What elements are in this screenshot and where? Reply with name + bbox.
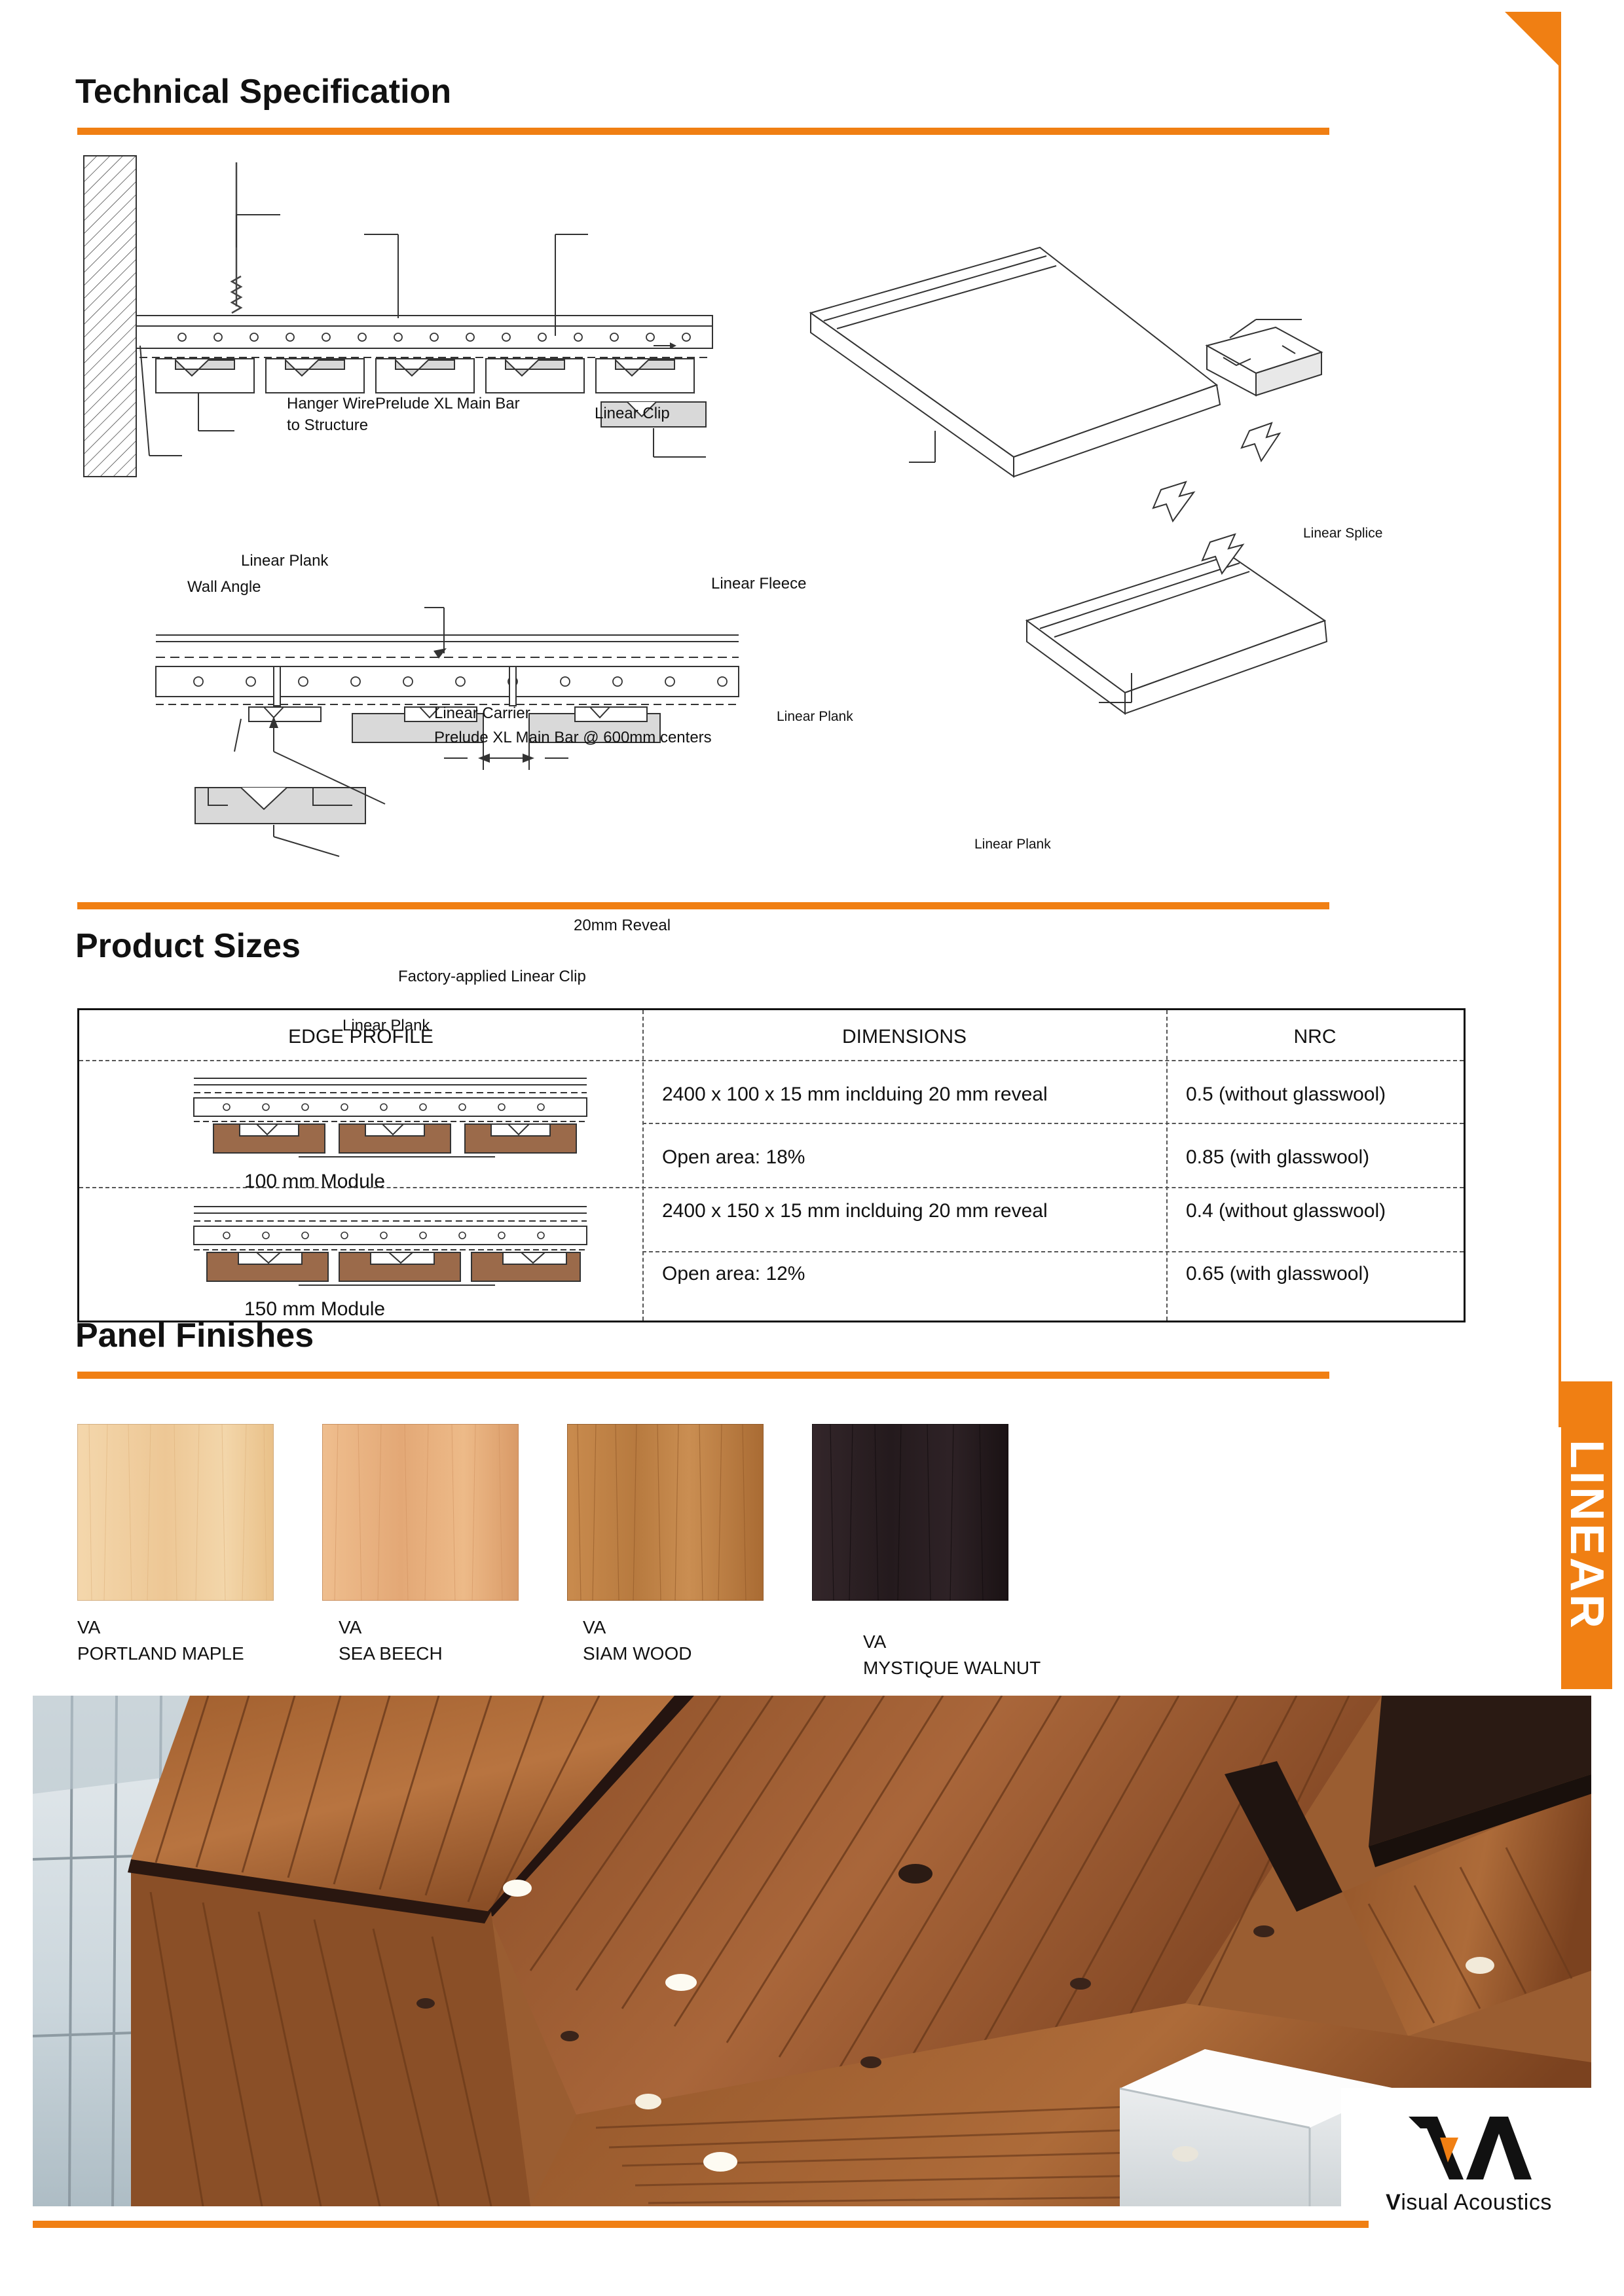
swatch-mystique-walnut-texture (812, 1424, 1008, 1601)
label-prelude-main-bar: Prelude XL Main Bar (375, 395, 520, 413)
open-area-100mm: Open area: 18% (662, 1146, 805, 1169)
table-nrc-subrule-2 (642, 1251, 1464, 1252)
swatch-caption-name-2: SEA BEECH (339, 1642, 443, 1666)
table-col-divider-2 (1166, 1010, 1168, 1321)
corner-triangle-decoration (1505, 12, 1561, 68)
swatch-mystique-walnut[interactable] (812, 1424, 1008, 1601)
table-header-rule (79, 1060, 1464, 1061)
page: LINEAR Technical Specification (0, 0, 1624, 2296)
dimensions-100mm: 2400 x 100 x 15 mm inclduing 20 mm revea… (662, 1084, 1048, 1106)
profile-drawing-100mm (187, 1070, 593, 1169)
section-title-finishes: Panel Finishes (75, 1316, 314, 1355)
table-header-edge-profile: EDGE PROFILE (79, 1026, 642, 1048)
product-sizes-table: EDGE PROFILE DIMENSIONS NRC (77, 1008, 1466, 1322)
brand-name-initial: V (1386, 2190, 1401, 2215)
nrc-with-100mm: 0.85 (with glasswool) (1186, 1146, 1369, 1169)
label-linear-plank-iso1: Linear Plank (777, 709, 853, 725)
nrc-without-100mm: 0.5 (without glasswool) (1186, 1084, 1386, 1106)
swatch-portland-maple-texture (77, 1424, 274, 1601)
swatch-siam-wood[interactable] (567, 1424, 764, 1601)
side-tab-linear: LINEAR (1561, 1381, 1612, 1689)
brand-name: Visual Acoustics (1386, 2190, 1552, 2215)
technical-diagram: Hanger Wire to Structure Prelude XL Main… (77, 149, 1335, 909)
swatch-portland-maple[interactable] (77, 1424, 274, 1601)
swatch-sea-beech[interactable] (322, 1424, 519, 1601)
swatch-caption-prefix-3: VA (583, 1616, 606, 1639)
side-tab-label: LINEAR (1560, 1440, 1614, 1631)
label-factory-applied-clip: Factory-applied Linear Clip (398, 968, 586, 986)
swatch-caption-prefix-1: VA (77, 1616, 100, 1639)
label-hanger-wire-line1: Hanger Wire (287, 395, 375, 413)
label-linear-clip: Linear Clip (595, 405, 670, 423)
table-nrc-subrule-1 (642, 1123, 1464, 1124)
swatch-sea-beech-texture (322, 1424, 519, 1601)
swatch-caption-prefix-2: VA (339, 1616, 361, 1639)
profile-drawing-150mm (187, 1199, 593, 1297)
section-title-sizes: Product Sizes (75, 926, 301, 966)
section-rule-technical (77, 128, 1329, 135)
table-header-dimensions: DIMENSIONS (642, 1026, 1166, 1048)
nrc-with-150mm: 0.65 (with glasswool) (1186, 1263, 1369, 1285)
swatch-caption-name-1: PORTLAND MAPLE (77, 1642, 244, 1666)
swatch-caption-prefix-4: VA (863, 1630, 886, 1654)
label-20mm-reveal: 20mm Reveal (574, 917, 671, 935)
swatch-caption-name-4: MYSTIQUE WALNUT (863, 1656, 1041, 1680)
nrc-without-150mm: 0.4 (without glasswool) (1186, 1200, 1386, 1222)
module-label-100mm: 100 mm Module (244, 1171, 385, 1193)
table-header-nrc: NRC (1166, 1026, 1464, 1048)
label-linear-plank-1: Linear Plank (241, 552, 328, 570)
bottom-accent-rule (33, 2221, 1369, 2228)
section-title-technical: Technical Specification (75, 72, 451, 111)
dimensions-150mm: 2400 x 150 x 15 mm inclduing 20 mm revea… (662, 1200, 1048, 1222)
swatch-siam-wood-texture (567, 1424, 764, 1601)
label-linear-splice: Linear Splice (1303, 526, 1382, 541)
open-area-150mm: Open area: 12% (662, 1263, 805, 1285)
table-col-divider-1 (642, 1010, 644, 1321)
vertical-accent-line (1559, 65, 1561, 1427)
brand-logo: Visual Acoustics (1341, 2088, 1596, 2238)
label-wall-angle: Wall Angle (187, 578, 261, 596)
va-monogram-icon (1403, 2111, 1534, 2190)
swatch-caption-name-3: SIAM WOOD (583, 1642, 692, 1666)
label-hanger-wire-line2: to Structure (287, 416, 368, 435)
section-rule-technical-bottom (77, 902, 1329, 909)
label-linear-plank-iso2: Linear Plank (974, 837, 1051, 852)
label-linear-carrier-line1: Linear Carrier (434, 704, 530, 723)
technical-diagram-svg (77, 149, 1335, 909)
section-rule-finishes (77, 1372, 1329, 1379)
label-linear-carrier-line2: Prelude XL Main Bar @ 600mm centers (434, 729, 712, 747)
brand-name-rest: isual Acoustics (1401, 2190, 1552, 2215)
label-linear-fleece: Linear Fleece (711, 575, 806, 593)
